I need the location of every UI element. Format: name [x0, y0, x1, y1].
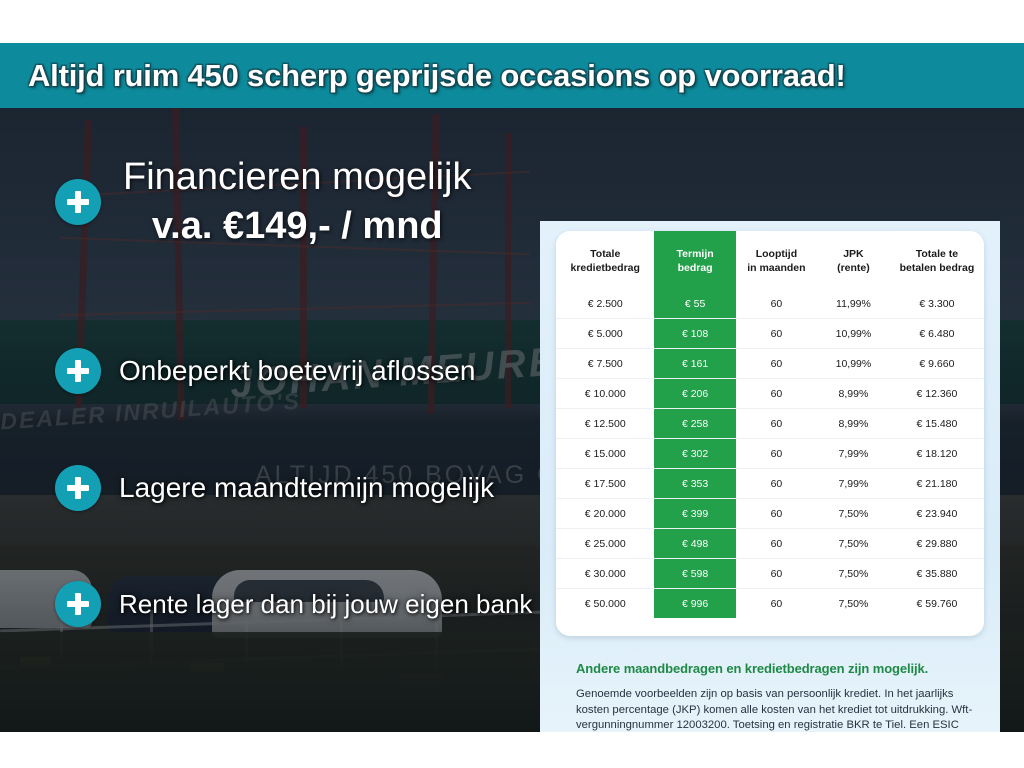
plus-icon	[55, 465, 101, 511]
table-cell: 60	[736, 289, 817, 319]
table-row: € 12.500€ 258608,99%€ 15.480	[556, 409, 984, 439]
table-row: € 17.500€ 353607,99%€ 21.180	[556, 469, 984, 499]
table-cell: 10,99%	[817, 349, 890, 379]
table-cell: 60	[736, 469, 817, 499]
table-cell: € 996	[654, 589, 735, 619]
table-row: € 25.000€ 498607,50%€ 29.880	[556, 529, 984, 559]
table-cell: 60	[736, 559, 817, 589]
header-line-2: bedrag	[678, 262, 713, 274]
table-row: € 30.000€ 598607,50%€ 35.880	[556, 559, 984, 589]
table-cell: 11,99%	[817, 289, 890, 319]
table-cell: € 15.480	[890, 409, 984, 439]
feature-item-rente-lager: Rente lager dan bij jouw eigen bank	[55, 581, 532, 627]
table-cell: € 17.500	[556, 469, 654, 499]
plus-icon	[55, 348, 101, 394]
table-row: € 15.000€ 302607,99%€ 18.120	[556, 439, 984, 469]
plus-icon	[55, 581, 101, 627]
table-cell: € 21.180	[890, 469, 984, 499]
table-row: € 2.500€ 556011,99%€ 3.300	[556, 289, 984, 319]
note-title: Andere maandbedragen en kredietbedragen …	[576, 661, 976, 676]
feature-list: Financieren mogelijk v.a. €149,- / mnd O…	[0, 108, 545, 732]
header-line-1: Looptijd	[756, 248, 797, 260]
table-cell: € 108	[654, 319, 735, 349]
table-cell: € 10.000	[556, 379, 654, 409]
table-cell: € 29.880	[890, 529, 984, 559]
header-line-2: in maanden	[747, 262, 805, 274]
advertisement-slide: Altijd ruim 450 scherp geprijsde occasio…	[0, 0, 1024, 768]
column-header-totale-kredietbedrag: Totale kredietbedrag	[556, 231, 654, 289]
table-cell: € 25.000	[556, 529, 654, 559]
table-row: € 50.000€ 996607,50%€ 59.760	[556, 589, 984, 619]
table-cell: 7,50%	[817, 529, 890, 559]
rates-table-body: € 2.500€ 556011,99%€ 3.300€ 5.000€ 10860…	[556, 289, 984, 618]
column-header-termijn-bedrag: Termijn bedrag	[654, 231, 735, 289]
table-row: € 7.500€ 1616010,99%€ 9.660	[556, 349, 984, 379]
table-cell: € 161	[654, 349, 735, 379]
finance-info-panel: Totale kredietbedrag Termijn bedrag Loop…	[540, 221, 1000, 732]
table-cell: € 7.500	[556, 349, 654, 379]
banner-headline: Altijd ruim 450 scherp geprijsde occasio…	[0, 58, 846, 94]
header-line-1: Totale	[590, 248, 620, 260]
table-row: € 5.000€ 1086010,99%€ 6.480	[556, 319, 984, 349]
column-header-totale-te-betalen: Totale te betalen bedrag	[890, 231, 984, 289]
table-cell: € 20.000	[556, 499, 654, 529]
table-cell: 60	[736, 379, 817, 409]
table-header-row: Totale kredietbedrag Termijn bedrag Loop…	[556, 231, 984, 289]
table-cell: 60	[736, 349, 817, 379]
table-cell: € 6.480	[890, 319, 984, 349]
feature-item-onbeperkt-aflossen: Onbeperkt boetevrij aflossen	[55, 348, 475, 394]
header-line-1: Totale te	[916, 248, 958, 260]
table-cell: € 353	[654, 469, 735, 499]
headline-line-1: Financieren mogelijk	[123, 156, 472, 199]
table-cell: € 55	[654, 289, 735, 319]
table-cell: € 15.000	[556, 439, 654, 469]
table-cell: € 302	[654, 439, 735, 469]
table-cell: € 5.000	[556, 319, 654, 349]
feature-label: Rente lager dan bij jouw eigen bank	[119, 589, 532, 620]
table-cell: € 399	[654, 499, 735, 529]
table-cell: 60	[736, 499, 817, 529]
header-line-2: betalen bedrag	[900, 262, 975, 274]
rates-table-card: Totale kredietbedrag Termijn bedrag Loop…	[556, 231, 984, 636]
table-cell: € 35.880	[890, 559, 984, 589]
table-cell: 60	[736, 529, 817, 559]
table-cell: € 12.360	[890, 379, 984, 409]
table-cell: 60	[736, 439, 817, 469]
table-cell: € 206	[654, 379, 735, 409]
top-banner: Altijd ruim 450 scherp geprijsde occasio…	[0, 43, 1024, 108]
table-cell: € 3.300	[890, 289, 984, 319]
table-cell: € 50.000	[556, 589, 654, 619]
table-cell: € 258	[654, 409, 735, 439]
table-cell: € 2.500	[556, 289, 654, 319]
table-cell: 60	[736, 589, 817, 619]
table-cell: 7,50%	[817, 559, 890, 589]
header-line-1: JPK	[843, 248, 863, 260]
table-cell: € 12.500	[556, 409, 654, 439]
header-line-2: kredietbedrag	[570, 262, 639, 274]
column-header-jkp: JPK (rente)	[817, 231, 890, 289]
table-row: € 20.000€ 399607,50%€ 23.940	[556, 499, 984, 529]
table-row: € 10.000€ 206608,99%€ 12.360	[556, 379, 984, 409]
headline-feature: Financieren mogelijk v.a. €149,- / mnd	[55, 156, 472, 248]
feature-label: Onbeperkt boetevrij aflossen	[119, 355, 475, 387]
column-header-looptijd: Looptijd in maanden	[736, 231, 817, 289]
table-cell: € 498	[654, 529, 735, 559]
table-cell: € 598	[654, 559, 735, 589]
header-line-2: (rente)	[837, 262, 870, 274]
table-cell: € 23.940	[890, 499, 984, 529]
table-cell: 8,99%	[817, 409, 890, 439]
table-cell: 60	[736, 409, 817, 439]
note-body: Genoemde voorbeelden zijn op basis van p…	[576, 687, 974, 732]
table-cell: 8,99%	[817, 379, 890, 409]
feature-label: Lagere maandtermijn mogelijk	[119, 472, 494, 504]
headline-line-2: v.a. €149,- / mnd	[123, 205, 472, 248]
table-cell: 60	[736, 319, 817, 349]
headline-block: Financieren mogelijk v.a. €149,- / mnd	[123, 156, 472, 248]
feature-item-lagere-maandtermijn: Lagere maandtermijn mogelijk	[55, 465, 494, 511]
table-cell: € 30.000	[556, 559, 654, 589]
table-cell: € 9.660	[890, 349, 984, 379]
plus-icon	[55, 179, 101, 225]
table-cell: 7,99%	[817, 469, 890, 499]
photo-content-area: DEALER INRUILAUTO'S JOHAN MEURE ALTIJD 4…	[0, 108, 1024, 732]
table-cell: € 18.120	[890, 439, 984, 469]
table-cell: 7,50%	[817, 499, 890, 529]
table-cell: € 59.760	[890, 589, 984, 619]
table-cell: 10,99%	[817, 319, 890, 349]
table-cell: 7,99%	[817, 439, 890, 469]
table-cell: 7,50%	[817, 589, 890, 619]
header-line-1: Termijn	[677, 248, 714, 260]
rates-table: Totale kredietbedrag Termijn bedrag Loop…	[556, 231, 984, 618]
